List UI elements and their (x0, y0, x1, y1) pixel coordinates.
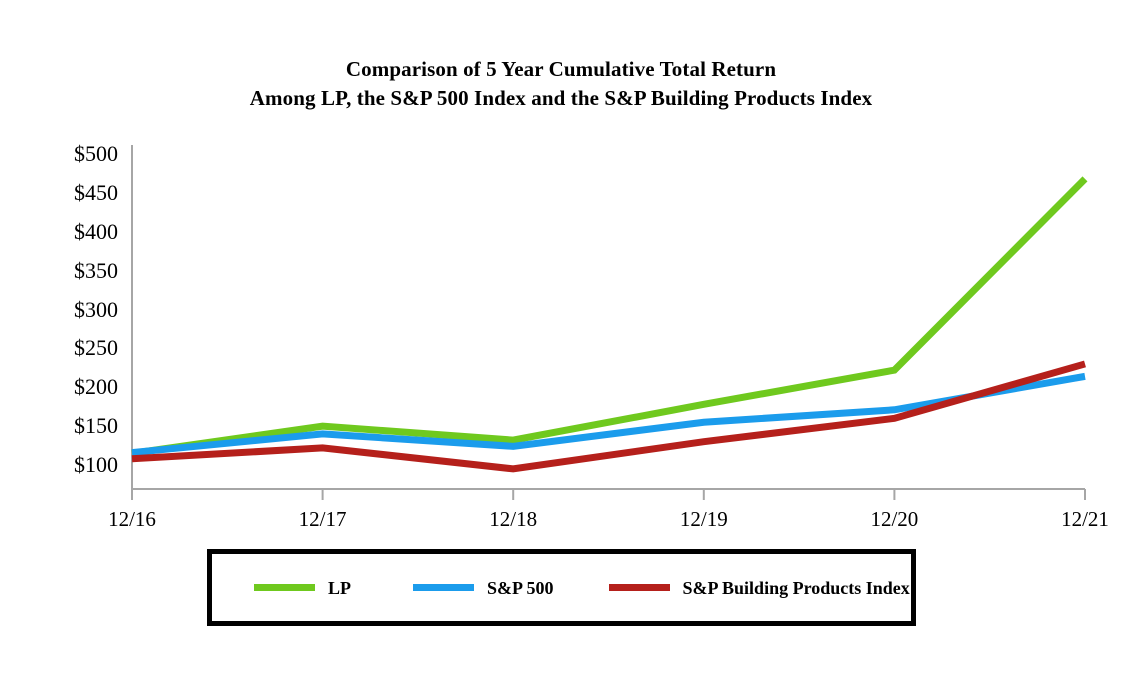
series-line-lp (132, 179, 1085, 453)
y-axis-tick-label: $150 (34, 415, 118, 437)
series-line-s-p-building-products-index (132, 364, 1085, 469)
series-layer (132, 179, 1085, 469)
chart-legend: LP S&P 500 S&P Building Products Index (207, 549, 916, 626)
y-axis-tick-label: $200 (34, 376, 118, 398)
legend-label-sp-building-products: S&P Building Products Index (683, 579, 910, 597)
x-axis-tick-label: 12/21 (1025, 509, 1122, 530)
legend-entry-sp500: S&P 500 (413, 579, 554, 597)
x-axis-tick-label: 12/20 (834, 509, 954, 530)
legend-label-lp: LP (328, 579, 351, 597)
x-axis-tick-label: 12/16 (72, 509, 192, 530)
x-axis-tick-label: 12/19 (644, 509, 764, 530)
legend-entry-sp-building-products: S&P Building Products Index (609, 579, 910, 597)
y-axis-tick-label: $300 (34, 299, 118, 321)
y-axis-tick-label: $100 (34, 454, 118, 476)
x-axis-tick-label: 12/18 (453, 509, 573, 530)
y-axis-tick-label: $350 (34, 260, 118, 282)
y-axis-tick-label: $450 (34, 182, 118, 204)
cumulative-total-return-chart: Comparison of 5 Year Cumulative Total Re… (0, 0, 1122, 688)
y-axis-tick-label: $500 (34, 143, 118, 165)
legend-swatch-sp500 (413, 584, 474, 591)
legend-swatch-lp (254, 584, 315, 591)
series-line-s-p-500 (132, 376, 1085, 452)
x-axis-tick-label: 12/17 (263, 509, 383, 530)
y-axis-tick-label: $400 (34, 221, 118, 243)
legend-label-sp500: S&P 500 (487, 579, 554, 597)
legend-entry-lp: LP (254, 579, 351, 597)
y-axis-tick-label: $250 (34, 337, 118, 359)
legend-swatch-sp-building-products (609, 584, 670, 591)
